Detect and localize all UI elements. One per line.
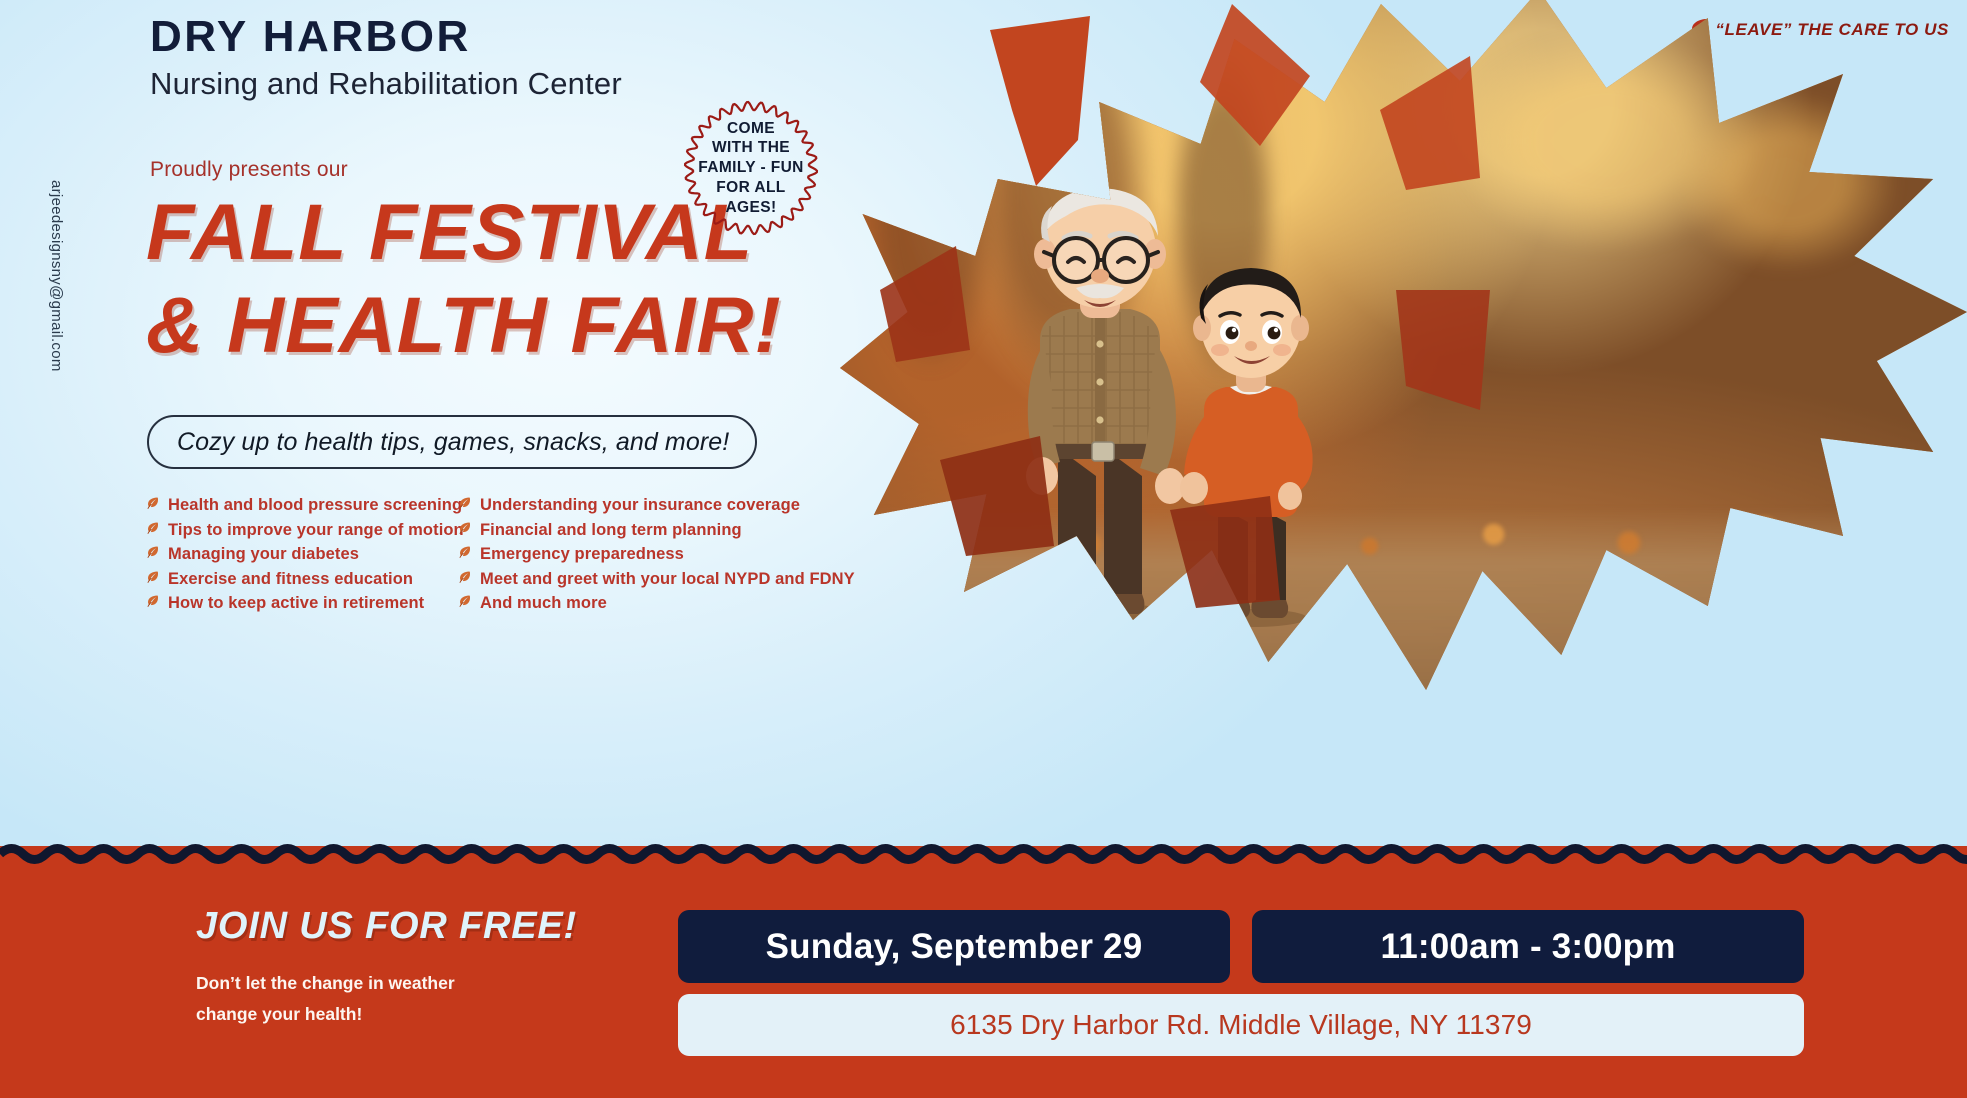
leaf-bullet-icon (458, 545, 471, 564)
list-item: Tips to improve your range of motion (146, 519, 436, 543)
list-item-label: Emergency preparedness (480, 545, 684, 564)
list-item: Managing your diabetes (146, 543, 436, 567)
event-details-band: JOIN US FOR FREE! Don’t let the change i… (0, 846, 1967, 1098)
badge-text: COME WITH THE FAMILY - FUN FOR ALL AGES! (679, 96, 823, 240)
list-item-label: Financial and long term planning (480, 521, 742, 540)
cozy-tagline-pill: Cozy up to health tips, games, snacks, a… (147, 415, 757, 469)
list-item: Health and blood pressure screening (146, 494, 436, 518)
cozy-tagline-text: Cozy up to health tips, games, snacks, a… (177, 428, 729, 457)
badge-line-1: COME (727, 119, 775, 139)
leaf-bullet-icon (458, 570, 471, 589)
join-free-title: JOIN US FOR FREE! (196, 905, 577, 948)
list-item: How to keep active in retirement (146, 592, 436, 616)
list-item: Exercise and fitness education (146, 568, 436, 592)
list-item: And much more (458, 592, 855, 616)
join-subtext-line-2: change your health! (196, 999, 526, 1030)
autumn-leaf-photo (840, 0, 1967, 690)
leaf-bullet-icon (458, 594, 471, 613)
list-item-label: How to keep active in retirement (168, 594, 424, 613)
leaf-mask (840, 0, 1967, 690)
brand-subtitle: Nursing and Rehabilitation Center (150, 66, 622, 102)
leaf-bullet-icon (458, 496, 471, 515)
join-subtext: Don’t let the change in weather change y… (196, 968, 526, 1029)
badge-line-5: AGES! (725, 198, 776, 218)
badge-line-4: FOR ALL (716, 178, 785, 198)
badge-line-2: WITH THE (712, 138, 790, 158)
badge-line-3: FAMILY - FUN (698, 158, 804, 178)
bullet-column-right: Understanding your insurance coverageFin… (458, 494, 855, 616)
family-fun-badge: COME WITH THE FAMILY - FUN FOR ALL AGES! (679, 96, 823, 240)
event-address-box: 6135 Dry Harbor Rd. Middle Village, NY 1… (678, 994, 1804, 1056)
list-item-label: Meet and greet with your local NYPD and … (480, 570, 855, 589)
list-item-label: And much more (480, 594, 607, 613)
leaf-bullet-icon (146, 570, 159, 589)
bullet-column-left: Health and blood pressure screeningTips … (146, 494, 436, 616)
top-hero-section: arjeedesignsny@gmail.com DRY HARBOR Nurs… (0, 0, 1967, 860)
list-item-label: Managing your diabetes (168, 545, 359, 564)
activities-lists: Health and blood pressure screeningTips … (146, 494, 855, 616)
event-date-box: Sunday, September 29 (678, 910, 1230, 983)
list-item-label: Health and blood pressure screening (168, 496, 462, 515)
leaf-bullet-icon (146, 594, 159, 613)
list-item: Understanding your insurance coverage (458, 494, 855, 518)
grandfather-and-child-illustration (980, 176, 1400, 646)
list-item: Meet and greet with your local NYPD and … (458, 568, 855, 592)
event-time-box: 11:00am - 3:00pm (1252, 910, 1804, 983)
designer-credit: arjeedesignsny@gmail.com (48, 180, 65, 372)
headline-line-2: & HEALTH FAIR! (146, 285, 866, 366)
leaf-bullet-icon (458, 521, 471, 540)
list-item: Financial and long term planning (458, 519, 855, 543)
presents-label: Proudly presents our (150, 158, 348, 182)
list-item-label: Tips to improve your range of motion (168, 521, 464, 540)
brand-block: DRY HARBOR Nursing and Rehabilitation Ce… (150, 14, 622, 102)
page-title: DRY HARBOR (150, 14, 622, 60)
wavy-divider (0, 824, 1967, 870)
list-item: Emergency preparedness (458, 543, 855, 567)
join-subtext-line-1: Don’t let the change in weather (196, 968, 526, 999)
leaf-bullet-icon (146, 545, 159, 564)
list-item-label: Understanding your insurance coverage (480, 496, 800, 515)
leaf-bullet-icon (146, 521, 159, 540)
leaf-bullet-icon (146, 496, 159, 515)
list-item-label: Exercise and fitness education (168, 570, 413, 589)
